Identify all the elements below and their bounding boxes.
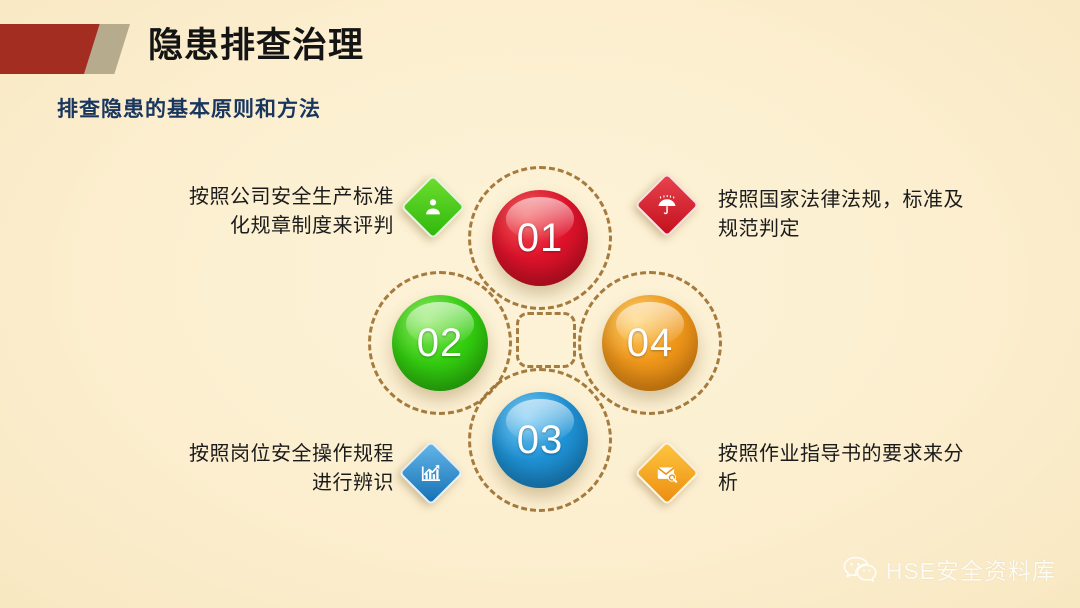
- wechat-icon: [843, 556, 877, 583]
- node-orb-03[interactable]: 03: [492, 392, 588, 488]
- user-person-icon: [400, 174, 465, 239]
- envelope-search-icon: [634, 440, 699, 505]
- bar-chart-growth-icon: [398, 440, 463, 505]
- callout-top-left: 按照公司安全生产标准化规章制度来评判: [178, 183, 394, 241]
- callout-bottom-left: 按照岗位安全操作规程进行辨识: [178, 440, 394, 498]
- watermark-text: HSE安全资料库: [886, 552, 1056, 586]
- node-orb-04[interactable]: 04: [602, 295, 698, 391]
- node-orb-03-label: 03: [517, 418, 564, 463]
- clover-diagram: 01 02 03 04: [0, 0, 1080, 608]
- center-dashed-square: [516, 312, 576, 368]
- node-orb-02[interactable]: 02: [392, 295, 488, 391]
- node-orb-01-label: 01: [517, 216, 564, 261]
- umbrella-rain-icon: [634, 172, 699, 237]
- node-orb-01[interactable]: 01: [492, 190, 588, 286]
- footer-watermark: HSE安全资料库: [843, 552, 1056, 586]
- node-orb-04-label: 04: [627, 321, 674, 366]
- callout-bottom-right: 按照作业指导书的要求来分析: [718, 440, 968, 498]
- callout-top-right: 按照国家法律法规，标准及规范判定: [718, 186, 968, 244]
- node-orb-02-label: 02: [417, 321, 464, 366]
